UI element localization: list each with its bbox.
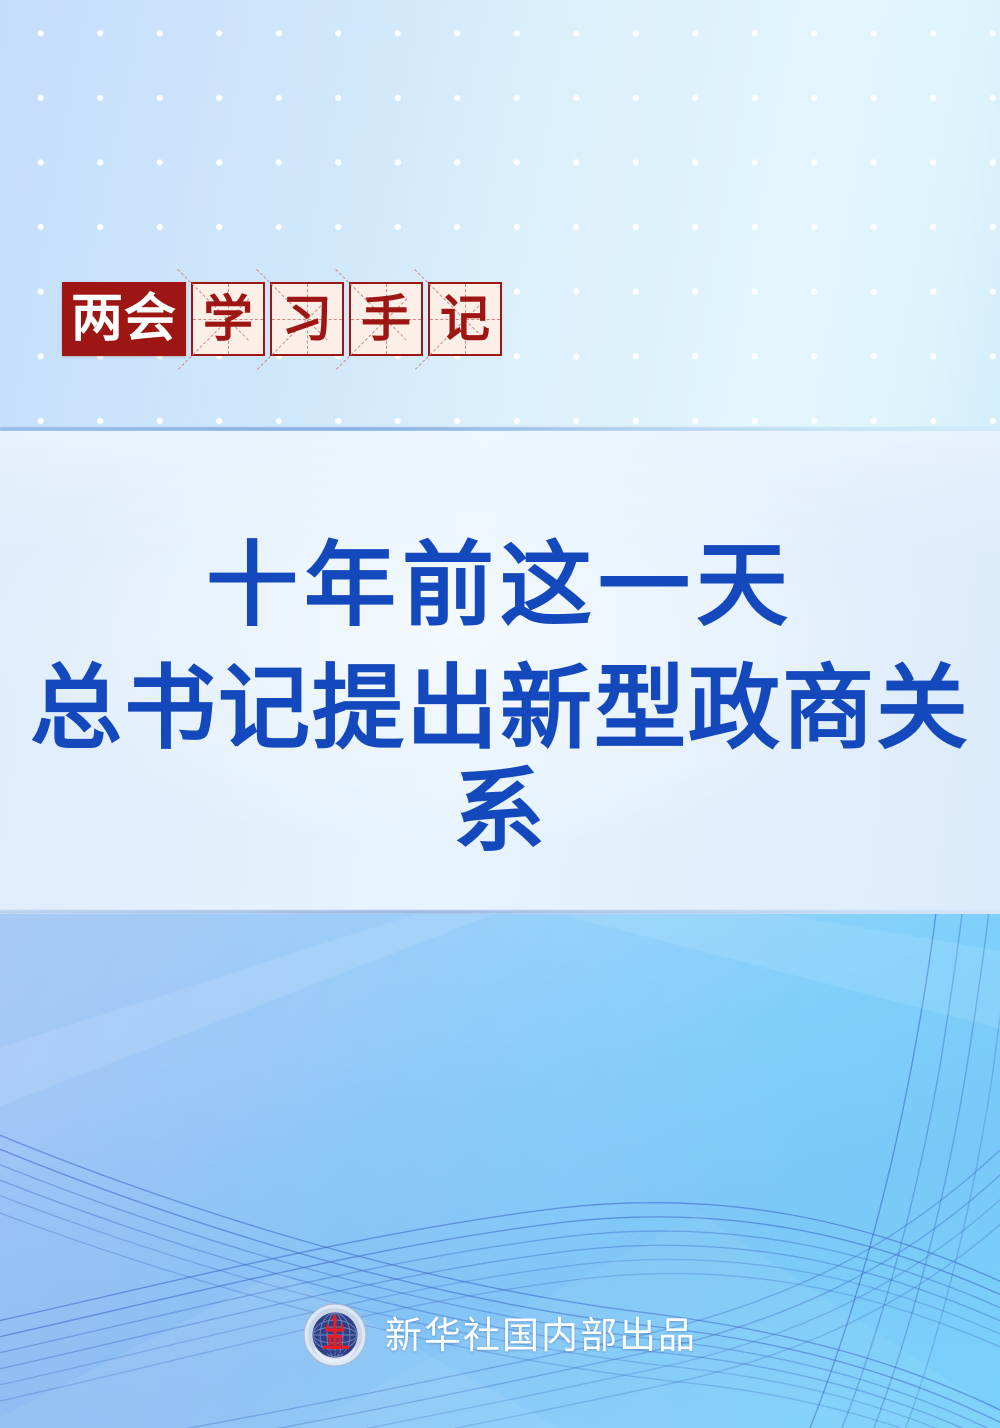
badge-lianghui: 两会 xyxy=(62,282,186,356)
logo-wordmark: XINHUA xyxy=(323,1349,347,1356)
poster-canvas: 两会 学 习 手 记 十年前这一天 总书记提 xyxy=(0,0,1000,1428)
grid-char: 习 xyxy=(282,294,332,344)
grid-cell-xi: 习 xyxy=(270,282,344,356)
headline-line-1: 十年前这一天 xyxy=(0,534,1000,637)
credit-label: 新华社国内部出品 xyxy=(385,1317,697,1354)
grid-cell-xue: 学 xyxy=(191,282,265,356)
grid-char: 学 xyxy=(203,294,253,344)
header-sheen xyxy=(0,0,1000,431)
grid-cell-ji: 记 xyxy=(428,282,502,356)
grid-char: 记 xyxy=(440,294,490,344)
footer-credit: XINHUA 新华社国内部出品 xyxy=(0,1303,1000,1367)
page-title: 十年前这一天 总书记提出新型政商关系 xyxy=(0,534,1000,863)
headline-line-2: 总书记提出新型政商关系 xyxy=(0,657,1000,863)
grid-char: 手 xyxy=(361,294,411,344)
xinhua-logo-icon: XINHUA xyxy=(303,1303,367,1367)
header-band xyxy=(0,0,1000,431)
grid-cell-shou: 手 xyxy=(349,282,423,356)
series-badge[interactable]: 两会 学 习 手 记 xyxy=(62,282,502,356)
